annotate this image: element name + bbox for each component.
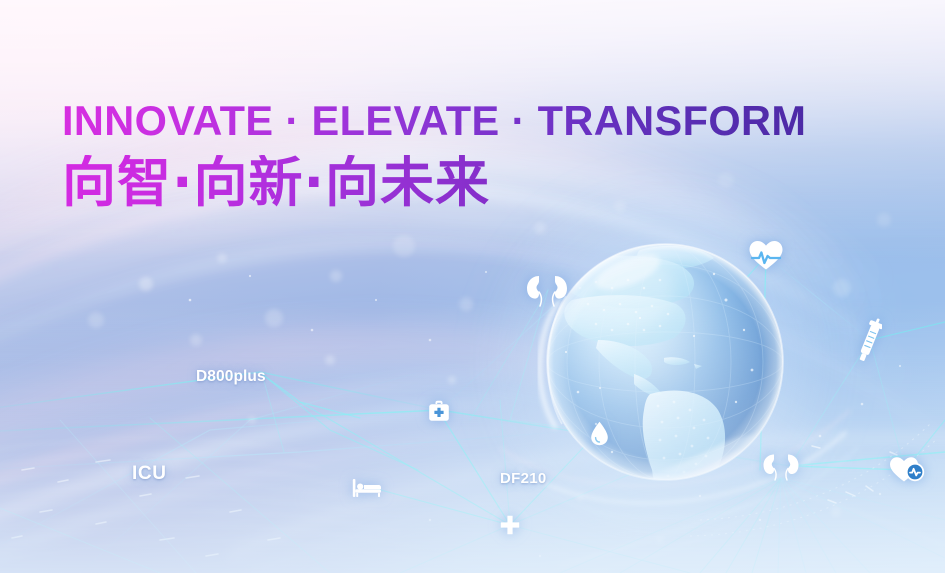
hero-banner: INNOVATE · ELEVATE · TRANSFORM 向智·向新·向未来…: [0, 0, 945, 573]
product-label-icu: ICU: [132, 463, 167, 485]
medical-cross-icon: [500, 515, 520, 535]
hospital-bed-icon: [352, 478, 382, 498]
kidneys-icon: [525, 274, 569, 308]
product-label-d800plus: D800plus: [196, 368, 266, 386]
kidneys-icon: [762, 453, 800, 481]
headline-chinese: 向智·向新·向未来: [62, 155, 806, 211]
background-artwork: [0, 0, 945, 573]
headline-english: INNOVATE · ELEVATE · TRANSFORM: [62, 100, 806, 142]
heart-ecg-icon: [748, 239, 784, 271]
syringe-icon: [858, 317, 882, 363]
medical-bag-icon: [428, 400, 450, 422]
product-label-df210: DF210: [500, 470, 547, 487]
blood-drop-icon: [590, 421, 609, 446]
headline-block: INNOVATE · ELEVATE · TRANSFORM 向智·向新·向未来: [62, 100, 806, 211]
heart-pulse-monitor-icon: [889, 455, 925, 483]
